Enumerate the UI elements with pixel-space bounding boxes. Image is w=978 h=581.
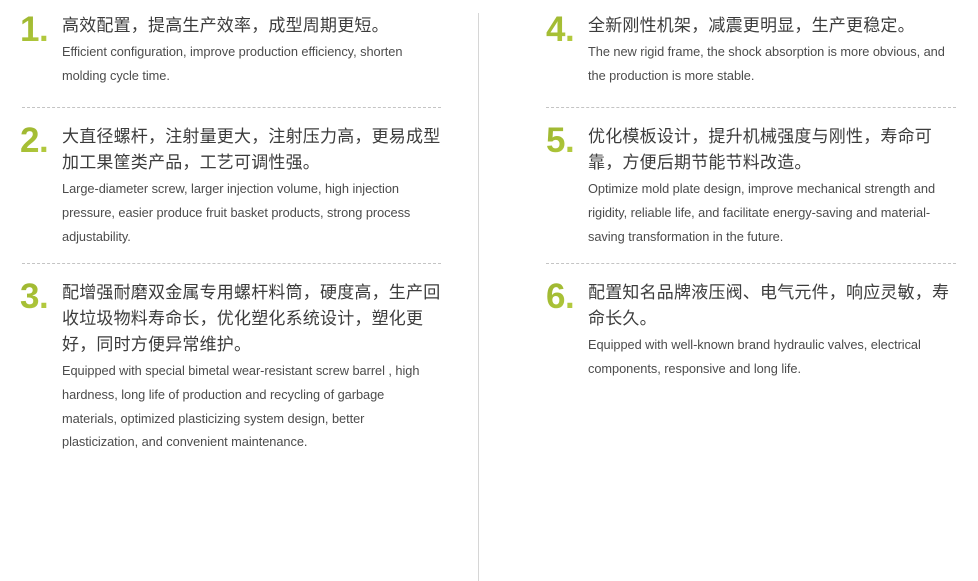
feature-body-2: 大直径螺杆，注射量更大，注射压力高，更易成型加工果筐类产品，工艺可调性强。 La… — [62, 124, 441, 249]
feature-item-2: 2. 大直径螺杆，注射量更大，注射压力高，更易成型加工果筐类产品，工艺可调性强。… — [20, 124, 441, 249]
feature-desc-en-3: Equipped with special bimetal wear-resis… — [62, 359, 441, 454]
feature-desc-en-4: The new rigid frame, the shock absorptio… — [588, 40, 956, 88]
feature-item-3: 3. 配增强耐磨双金属专用螺杆料筒，硬度高，生产回收垃圾物料寿命长，优化塑化系统… — [20, 280, 441, 455]
feature-title-cn-6: 配置知名品牌液压阀、电气元件，响应灵敏，寿命长久。 — [588, 280, 956, 332]
feature-item-4: 4. 全新刚性机架，减震更明显，生产更稳定。 The new rigid fra… — [546, 13, 956, 88]
feature-title-cn-2: 大直径螺杆，注射量更大，注射压力高，更易成型加工果筐类产品，工艺可调性强。 — [62, 124, 441, 176]
feature-number-2: 2. — [20, 124, 62, 157]
feature-separator-left-2 — [22, 263, 441, 264]
feature-item-6: 6. 配置知名品牌液压阀、电气元件，响应灵敏，寿命长久。 Equipped wi… — [546, 280, 956, 381]
feature-number-6: 6. — [546, 280, 588, 313]
feature-body-3: 配增强耐磨双金属专用螺杆料筒，硬度高，生产回收垃圾物料寿命长，优化塑化系统设计，… — [62, 280, 441, 455]
column-divider — [478, 13, 479, 581]
feature-body-1: 高效配置，提高生产效率，成型周期更短。 Efficient configurat… — [62, 13, 441, 88]
feature-list-grid: 1. 高效配置，提高生产效率，成型周期更短。 Efficient configu… — [0, 0, 978, 581]
feature-body-5: 优化模板设计，提升机械强度与刚性，寿命可靠，方便后期节能节料改造。 Optimi… — [588, 124, 956, 249]
feature-number-3: 3. — [20, 280, 62, 313]
feature-number-4: 4. — [546, 13, 588, 46]
feature-separator-left-1 — [22, 107, 441, 108]
feature-body-4: 全新刚性机架，减震更明显，生产更稳定。 The new rigid frame,… — [588, 13, 956, 88]
feature-title-cn-3: 配增强耐磨双金属专用螺杆料筒，硬度高，生产回收垃圾物料寿命长，优化塑化系统设计，… — [62, 280, 441, 359]
feature-title-cn-1: 高效配置，提高生产效率，成型周期更短。 — [62, 13, 441, 39]
feature-column-left: 1. 高效配置，提高生产效率，成型周期更短。 Efficient configu… — [0, 0, 489, 581]
feature-number-1: 1. — [20, 13, 62, 46]
feature-item-5: 5. 优化模板设计，提升机械强度与刚性，寿命可靠，方便后期节能节料改造。 Opt… — [546, 124, 956, 249]
feature-item-1: 1. 高效配置，提高生产效率，成型周期更短。 Efficient configu… — [20, 13, 441, 88]
feature-number-5: 5. — [546, 124, 588, 157]
feature-column-right: 4. 全新刚性机架，减震更明显，生产更稳定。 The new rigid fra… — [489, 0, 978, 581]
feature-desc-en-5: Optimize mold plate design, improve mech… — [588, 177, 956, 248]
feature-body-6: 配置知名品牌液压阀、电气元件，响应灵敏，寿命长久。 Equipped with … — [588, 280, 956, 381]
feature-separator-right-2 — [546, 263, 956, 264]
feature-desc-en-6: Equipped with well-known brand hydraulic… — [588, 333, 956, 381]
feature-separator-right-1 — [546, 107, 956, 108]
feature-desc-en-2: Large-diameter screw, larger injection v… — [62, 177, 441, 248]
feature-desc-en-1: Efficient configuration, improve product… — [62, 40, 441, 88]
feature-title-cn-4: 全新刚性机架，减震更明显，生产更稳定。 — [588, 13, 956, 39]
feature-title-cn-5: 优化模板设计，提升机械强度与刚性，寿命可靠，方便后期节能节料改造。 — [588, 124, 956, 176]
